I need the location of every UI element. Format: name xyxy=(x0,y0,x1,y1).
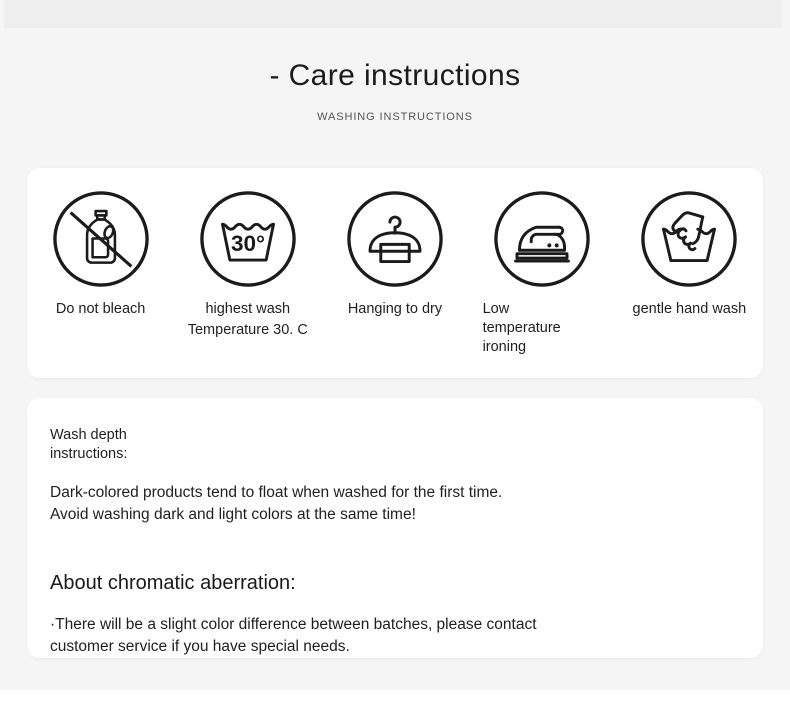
symbol-label: Do not bleach xyxy=(56,300,145,319)
hand-wash-icon xyxy=(640,190,738,288)
aberration-line-1: ·There will be a slight color difference… xyxy=(50,614,741,636)
care-notes-content: Wash depth instructions: Dark-colored pr… xyxy=(50,426,741,658)
wash-depth-heading: Wash depth instructions: xyxy=(50,426,170,464)
symbol-hang-dry: Hanging to dry xyxy=(321,190,468,319)
wash-depth-line-2: Avoid washing dark and light colors at t… xyxy=(50,504,741,526)
wash-temperature-text: 30° xyxy=(231,231,265,256)
chromatic-aberration-heading: About chromatic aberration: xyxy=(50,570,741,596)
no-bleach-icon xyxy=(52,190,150,288)
hanger-dry-icon xyxy=(346,190,444,288)
page-header: - Care instructions WASHING INSTRUCTIONS xyxy=(0,56,790,124)
symbol-label: gentle hand wash xyxy=(633,300,747,319)
symbol-label: Low temperature ironing xyxy=(483,300,583,357)
wash-depth-body: Dark-colored products tend to float when… xyxy=(50,482,741,526)
symbol-low-iron: Low temperature ironing xyxy=(469,190,616,357)
symbol-label: Hanging to dry xyxy=(348,300,442,319)
wash-depth-line-1: Dark-colored products tend to float when… xyxy=(50,482,741,504)
page-title: - Care instructions xyxy=(0,56,790,96)
symbol-label: highest wash xyxy=(205,300,290,319)
wash-tub-30-icon: 30° xyxy=(199,190,297,288)
chromatic-aberration-body: ·There will be a slight color difference… xyxy=(50,614,741,658)
washing-symbols-card: Do not bleach 30° highest wash Temperatu… xyxy=(27,168,763,378)
care-notes-card: Wash depth instructions: Dark-colored pr… xyxy=(27,398,763,658)
symbol-hand-wash: gentle hand wash xyxy=(616,190,763,319)
iron-low-temp-icon xyxy=(493,190,591,288)
washing-symbols-row: Do not bleach 30° highest wash Temperatu… xyxy=(27,190,763,370)
aberration-line-2: customer service if you have special nee… xyxy=(50,636,741,658)
care-instructions-page: - Care instructions WASHING INSTRUCTIONS xyxy=(0,0,790,715)
page-subtitle: WASHING INSTRUCTIONS xyxy=(0,110,790,124)
symbol-label-line2: Temperature 30. C xyxy=(153,321,343,340)
symbol-do-not-bleach: Do not bleach xyxy=(27,190,174,319)
symbol-wash-30: 30° highest wash Temperature 30. C xyxy=(174,190,321,340)
top-strip xyxy=(4,0,782,28)
